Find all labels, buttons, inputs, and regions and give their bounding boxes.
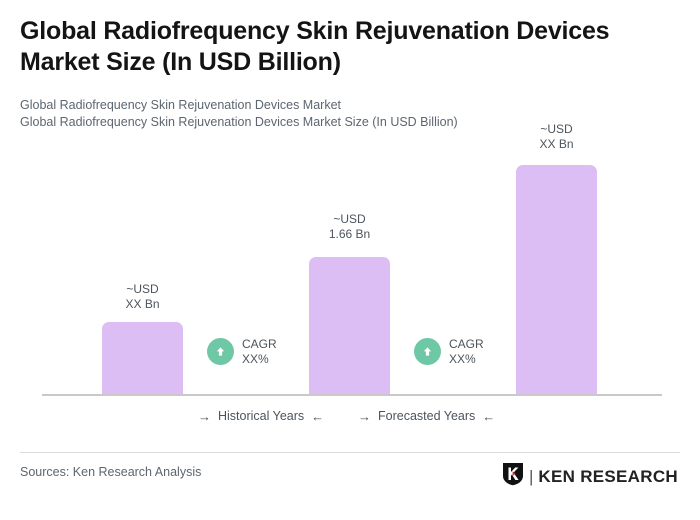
cagr-badge-1-text: CAGR XX% [242,337,277,366]
arrow-left-icon: ← [311,410,324,423]
bar-label-3-line-2: XX Bn [516,137,597,152]
logo-wordmark: KEN RESEARCH [538,468,678,485]
bar-forecasted[interactable] [516,165,597,394]
cagr-badge-2-label: CAGR [449,337,484,352]
arrow-up-icon [207,338,234,365]
period-historical-years: → Historical Years ← [198,409,324,423]
period-historical-years-label: Historical Years [218,409,304,423]
bar-historical[interactable] [102,322,183,394]
bar-label-2: ~USD 1.66 Bn [309,212,390,241]
sources-text: Sources: Ken Research Analysis [20,465,201,479]
bar-label-1: ~USD XX Bn [102,282,183,311]
period-forecasted-years-label: Forecasted Years [378,409,475,423]
arrow-left-icon: ← [482,410,495,423]
arrow-right-icon: → [198,410,211,423]
cagr-badge-1-value: XX% [242,352,277,367]
period-forecasted-years: → Forecasted Years ← [358,409,495,423]
bar-label-2-line-1: ~USD [309,212,390,227]
cagr-badge-1-label: CAGR [242,337,277,352]
bar-label-3: ~USD XX Bn [516,122,597,151]
arrow-up-icon [414,338,441,365]
bar-mid[interactable] [309,257,390,394]
cagr-badge-2-value: XX% [449,352,484,367]
chart-plot-area: ~USD XX Bn CAGR XX% ~USD 1.66 Bn [0,0,700,420]
bar-label-1-line-2: XX Bn [102,297,183,312]
cagr-badge-2-text: CAGR XX% [449,337,484,366]
ken-research-shield-icon [502,462,524,491]
axis-baseline [42,394,662,396]
cagr-badge-1: CAGR XX% [207,337,277,366]
logo-divider: | [529,468,533,485]
ken-research-logo: | KEN RESEARCH [502,462,678,491]
arrow-right-icon: → [358,410,371,423]
bar-label-3-line-1: ~USD [516,122,597,137]
footer-divider [20,452,680,453]
bar-label-1-line-1: ~USD [102,282,183,297]
cagr-badge-2: CAGR XX% [414,337,484,366]
chart-slide: Global Radiofrequency Skin Rejuvenation … [0,0,700,520]
period-caption-row: → Historical Years ← → Forecasted Years … [0,409,700,431]
bar-label-2-line-2: 1.66 Bn [309,227,390,242]
